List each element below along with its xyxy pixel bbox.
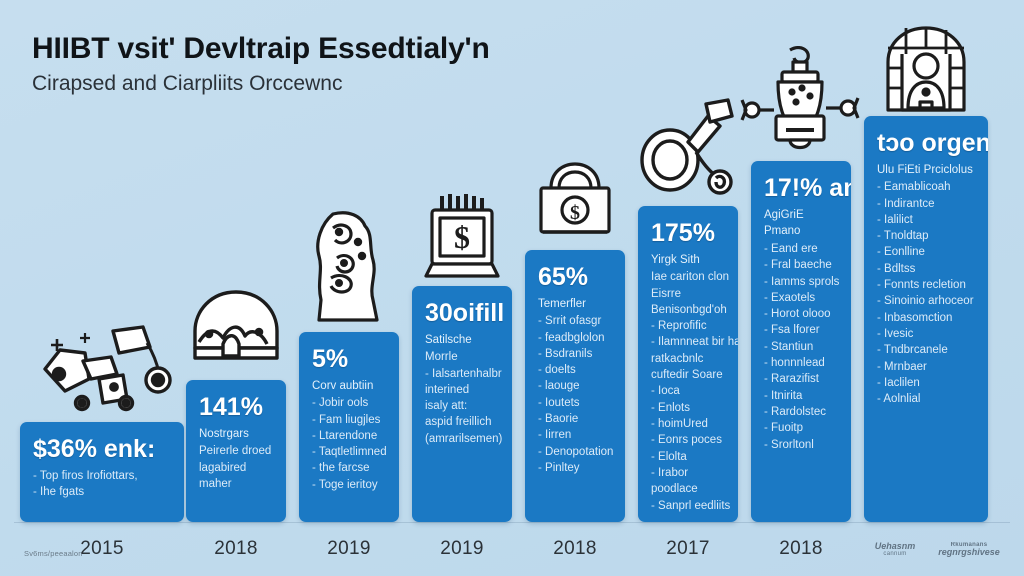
footer-logo-2: Rkumanans regnrgshivese <box>932 542 1006 558</box>
list-item: Eisrre <box>651 286 727 302</box>
list-item: Ialilict <box>877 212 977 228</box>
list-item: Ltarendone <box>312 428 388 444</box>
footer-logo-1-bottom: cannum <box>862 551 928 558</box>
bar-1-items: Top firos Irofiottars, Ihe fgats <box>33 468 173 501</box>
x-axis-label-3: 2019 <box>299 538 399 560</box>
list-item: isaly att: <box>425 398 501 414</box>
list-item: Reprofific <box>651 318 727 334</box>
bar-3-value: 5% <box>312 346 388 374</box>
chart-column-7: 17!% anf AgiGriE Pmano Eand ere Fral bae… <box>751 0 851 576</box>
chart-column-3: 5% Corv aubtiin Jobir ools Fam liugjles … <box>299 0 399 576</box>
list-item: Aolnlial <box>877 391 977 407</box>
list-item: Fuoitp <box>764 420 840 436</box>
list-item: Rardolstec <box>764 404 840 420</box>
bar-1-value: $36% enk: <box>33 436 173 464</box>
list-item: Fam liugjles <box>312 412 388 428</box>
bar-2[interactable]: 141% Nostrgars Peirerle droed lagabired … <box>186 380 286 522</box>
list-item: Mrnbaer <box>877 359 977 375</box>
bar-5-items: Srrit ofasgr feadbglolon Bsdranils doelt… <box>538 313 614 476</box>
money-calendar-icon: $ <box>418 192 506 284</box>
bar-6[interactable]: 175% Yirgk Sith Iae cariton clon Eisrre … <box>638 206 738 522</box>
bar-2-head: Nostrgars <box>199 426 275 443</box>
bar-6-items: Iae cariton clon Eisrre Benisonbgd'oh Re… <box>651 269 727 514</box>
svg-text:$: $ <box>454 219 470 255</box>
list-item: feadbglolon <box>538 330 614 346</box>
bar-8-value: tɔo orgens <box>877 130 977 158</box>
list-item: interined <box>425 382 501 398</box>
list-item: Iirren <box>538 427 614 443</box>
chart-column-1: $36% enk: Top firos Irofiottars, Ihe fga… <box>20 0 184 576</box>
list-item: Taqtletlimned <box>312 444 388 460</box>
list-item: Ialsartenhalbr <box>425 366 501 382</box>
list-item: laouge <box>538 378 614 394</box>
list-item: Ioutets <box>538 395 614 411</box>
list-item: Inbasomction <box>877 310 977 326</box>
list-item: Toge ieritoy <box>312 477 388 493</box>
footer-logo-2-bottom: regnrgshivese <box>932 548 1006 558</box>
list-item: Jobir ools <box>312 395 388 411</box>
bar-1[interactable]: $36% enk: Top firos Irofiottars, Ihe fga… <box>20 422 184 522</box>
svg-text:$: $ <box>570 202 580 224</box>
list-item: doelts <box>538 362 614 378</box>
list-item: the farcse <box>312 460 388 476</box>
rock-figure-icon <box>303 208 395 326</box>
bar-8[interactable]: tɔo orgens Ulu FiEti Prciclolus Eamablic… <box>864 116 988 522</box>
list-item: Tnoldtap <box>877 228 977 244</box>
bar-4-value: 30oifill <box>425 300 501 328</box>
chart-column-2: 141% Nostrgars Peirerle droed lagabired … <box>186 0 286 576</box>
chart-column-6: 175% Yirgk Sith Iae cariton clon Eisrre … <box>638 0 738 576</box>
bar-5-head: Temerfler <box>538 296 614 313</box>
list-item: Rarazifist <box>764 371 840 387</box>
list-item: lagabired <box>199 460 275 476</box>
list-item: maher <box>199 476 275 492</box>
x-axis-label-7: 2018 <box>751 538 851 560</box>
bar-4-head: Satilsche <box>425 332 501 349</box>
list-item: Iae cariton clon <box>651 269 727 285</box>
list-item: Baorie <box>538 411 614 427</box>
list-item: Iamms sprols <box>764 274 840 290</box>
list-item: Iaclilen <box>877 375 977 391</box>
bar-5[interactable]: 65% Temerfler Srrit ofasgr feadbglolon B… <box>525 250 625 522</box>
bar-6-head: Yirgk Sith <box>651 252 727 269</box>
list-item: (amrarilsemen) <box>425 431 501 447</box>
list-item: Benisonbgd'oh <box>651 302 727 318</box>
chart-column-4: $ 30oifill Satilsche Morrle Ialsartenhal… <box>412 0 512 576</box>
list-item: Denopotation <box>538 444 614 460</box>
list-item: Fral baeche <box>764 257 840 273</box>
bar-2-items: Peirerle droed lagabired maher <box>199 443 275 492</box>
bar-4-items: Morrle Ialsartenhalbr interined isaly at… <box>425 349 501 447</box>
person-archway-icon <box>882 24 970 114</box>
list-item: Ihe fgats <box>33 484 173 500</box>
list-item: hoimUred <box>651 416 727 432</box>
list-item: Morrle <box>425 349 501 365</box>
magnifier-lamp-icon <box>636 92 740 200</box>
bar-chart-plot: $36% enk: Top firos Irofiottars, Ihe fga… <box>0 0 1024 576</box>
bar-2-value: 141% <box>199 394 275 422</box>
list-item: Irabor <box>651 465 727 481</box>
x-axis-label-6: 2017 <box>638 538 738 560</box>
abstract-shapes-icon <box>27 317 177 412</box>
list-item: Horot olooo <box>764 306 840 322</box>
bar-5-value: 65% <box>538 264 614 292</box>
list-item: Top firos Irofiottars, <box>33 468 173 484</box>
footer-logo-1: Uehasnm cannum <box>862 542 928 558</box>
lantern-device-icon <box>738 46 864 158</box>
list-item: Bsdranils <box>538 346 614 362</box>
bar-8-items: Eamablicoah Indirantce Ialilict Tnoldtap… <box>877 179 977 408</box>
bar-7[interactable]: 17!% anf AgiGriE Pmano Eand ere Fral bae… <box>751 161 851 522</box>
bar-8-head: Ulu FiEti Prciclolus <box>877 162 977 179</box>
chart-column-8: tɔo orgens Ulu FiEti Prciclolus Eamablic… <box>864 0 988 576</box>
chart-column-5: $ 65% Temerfler Srrit ofasgr feadbglolon… <box>525 0 625 576</box>
list-item: Pinltey <box>538 460 614 476</box>
list-item: Enlots <box>651 400 727 416</box>
bar-3-head: Corv aubtiin <box>312 378 388 395</box>
list-item: Ilamnneat bir han <box>651 334 727 350</box>
list-item: Srrit ofasgr <box>538 313 614 329</box>
x-axis-label-4: 2019 <box>412 538 512 560</box>
list-item: cuftedir Soare <box>651 367 727 383</box>
bar-3-items: Jobir ools Fam liugjles Ltarendone Taqtl… <box>312 395 388 493</box>
bar-3[interactable]: 5% Corv aubtiin Jobir ools Fam liugjles … <box>299 332 399 522</box>
list-item: Eonrs poces <box>651 432 727 448</box>
list-item: Srorltonl <box>764 437 840 453</box>
footer-logo-1-top: Uehasnm <box>862 542 928 552</box>
list-item: Elolta <box>651 449 727 465</box>
money-box-icon: $ <box>533 160 617 242</box>
list-item: Exaotels <box>764 290 840 306</box>
list-item: aspid freillich <box>425 414 501 430</box>
infographic-canvas: HIIBT vsit' Devltraip Essedtialy'n Cirap… <box>0 0 1024 576</box>
list-item: Sinoinio arhoceor <box>877 293 977 309</box>
list-item: Peirerle droed <box>199 443 275 459</box>
x-axis-label-5: 2018 <box>525 538 625 560</box>
list-item: Eonlline <box>877 244 977 260</box>
axis-note: Sv6ms/peeaalon <box>24 549 83 558</box>
list-item: Itnirita <box>764 388 840 404</box>
list-item: Indirantce <box>877 196 977 212</box>
list-item: Eamablicoah <box>877 179 977 195</box>
list-item: Tndbrcanele <box>877 342 977 358</box>
list-item: Bdltss <box>877 261 977 277</box>
list-item: Fsa lforer <box>764 322 840 338</box>
list-item: Ivesic <box>877 326 977 342</box>
list-item: Fonnts recletion <box>877 277 977 293</box>
list-item: Stantiun <box>764 339 840 355</box>
bar-7-items: Eand ere Fral baeche Iamms sprols Exaote… <box>764 241 840 453</box>
list-item: Ioca <box>651 383 727 399</box>
list-item: Sanprl eedliits <box>651 498 727 514</box>
list-item: ratkacbnlc <box>651 351 727 367</box>
dome-cloud-icon <box>183 286 289 368</box>
x-axis-label-2: 2018 <box>186 538 286 560</box>
list-item: poodlace <box>651 481 727 497</box>
bar-6-value: 175% <box>651 220 727 248</box>
bar-4[interactable]: 30oifill Satilsche Morrle Ialsartenhalbr… <box>412 286 512 522</box>
list-item: Eand ere <box>764 241 840 257</box>
bar-7-value: 17!% anf <box>764 175 840 203</box>
list-item: honnnlead <box>764 355 840 371</box>
bar-7-head: AgiGriE Pmano <box>764 207 840 240</box>
